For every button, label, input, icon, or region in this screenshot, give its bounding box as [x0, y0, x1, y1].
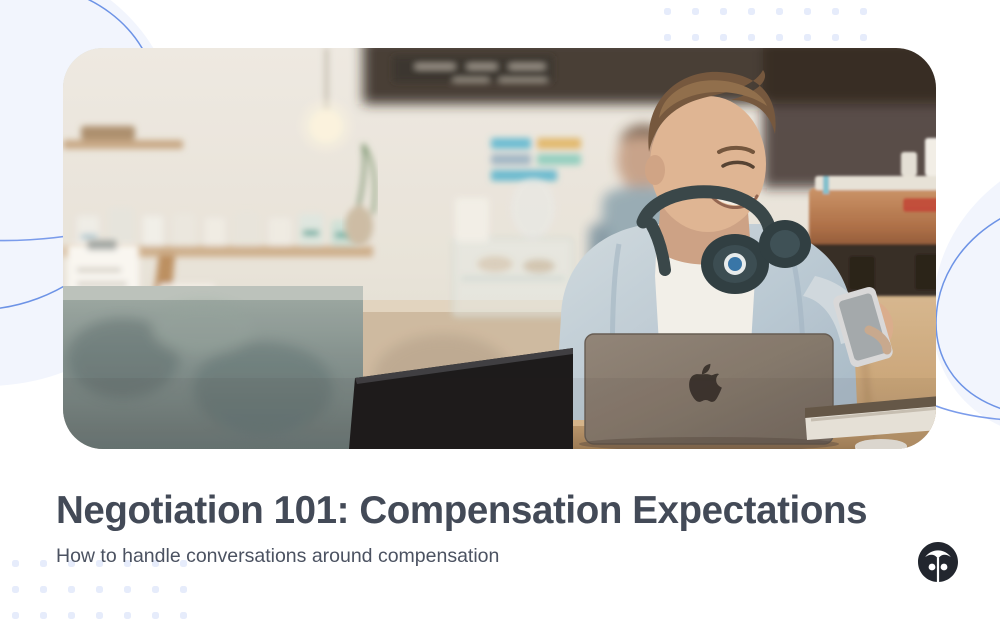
dot	[832, 8, 839, 15]
dot	[68, 586, 75, 593]
dot	[68, 612, 75, 619]
dot	[776, 34, 783, 41]
dot	[40, 586, 47, 593]
dot	[692, 34, 699, 41]
slide-canvas: Negotiation 101: Compensation Expectatio…	[0, 0, 1000, 627]
dot	[692, 8, 699, 15]
owl-logo-eye-left	[929, 564, 936, 571]
dot	[12, 612, 19, 619]
dot	[776, 8, 783, 15]
dot	[180, 586, 187, 593]
owl-logo	[917, 541, 959, 583]
dot	[180, 612, 187, 619]
dot	[664, 34, 671, 41]
dot	[40, 612, 47, 619]
dot	[12, 560, 19, 567]
dot	[124, 586, 131, 593]
blob-right-fill	[932, 140, 1000, 430]
dot	[860, 8, 867, 15]
blob-right-outline-lower	[936, 406, 1000, 421]
dot	[748, 8, 755, 15]
dot	[152, 612, 159, 619]
dot	[832, 34, 839, 41]
dot	[720, 8, 727, 15]
dot	[96, 586, 103, 593]
dot	[96, 612, 103, 619]
hero-image	[63, 48, 936, 449]
dot	[804, 8, 811, 15]
dot-grid-bottom-left	[12, 560, 208, 627]
dot	[664, 8, 671, 15]
blob-right-outline	[936, 198, 1000, 412]
dot	[124, 612, 131, 619]
dot	[720, 34, 727, 41]
owl-logo-center-split	[937, 558, 939, 582]
page-subtitle: How to handle conversations around compe…	[56, 544, 499, 569]
dot	[152, 586, 159, 593]
owl-logo-eye-right	[941, 564, 948, 571]
page-title: Negotiation 101: Compensation Expectatio…	[56, 489, 867, 532]
dot	[804, 34, 811, 41]
dot	[40, 560, 47, 567]
dot	[860, 34, 867, 41]
dot	[12, 586, 19, 593]
dot	[748, 34, 755, 41]
